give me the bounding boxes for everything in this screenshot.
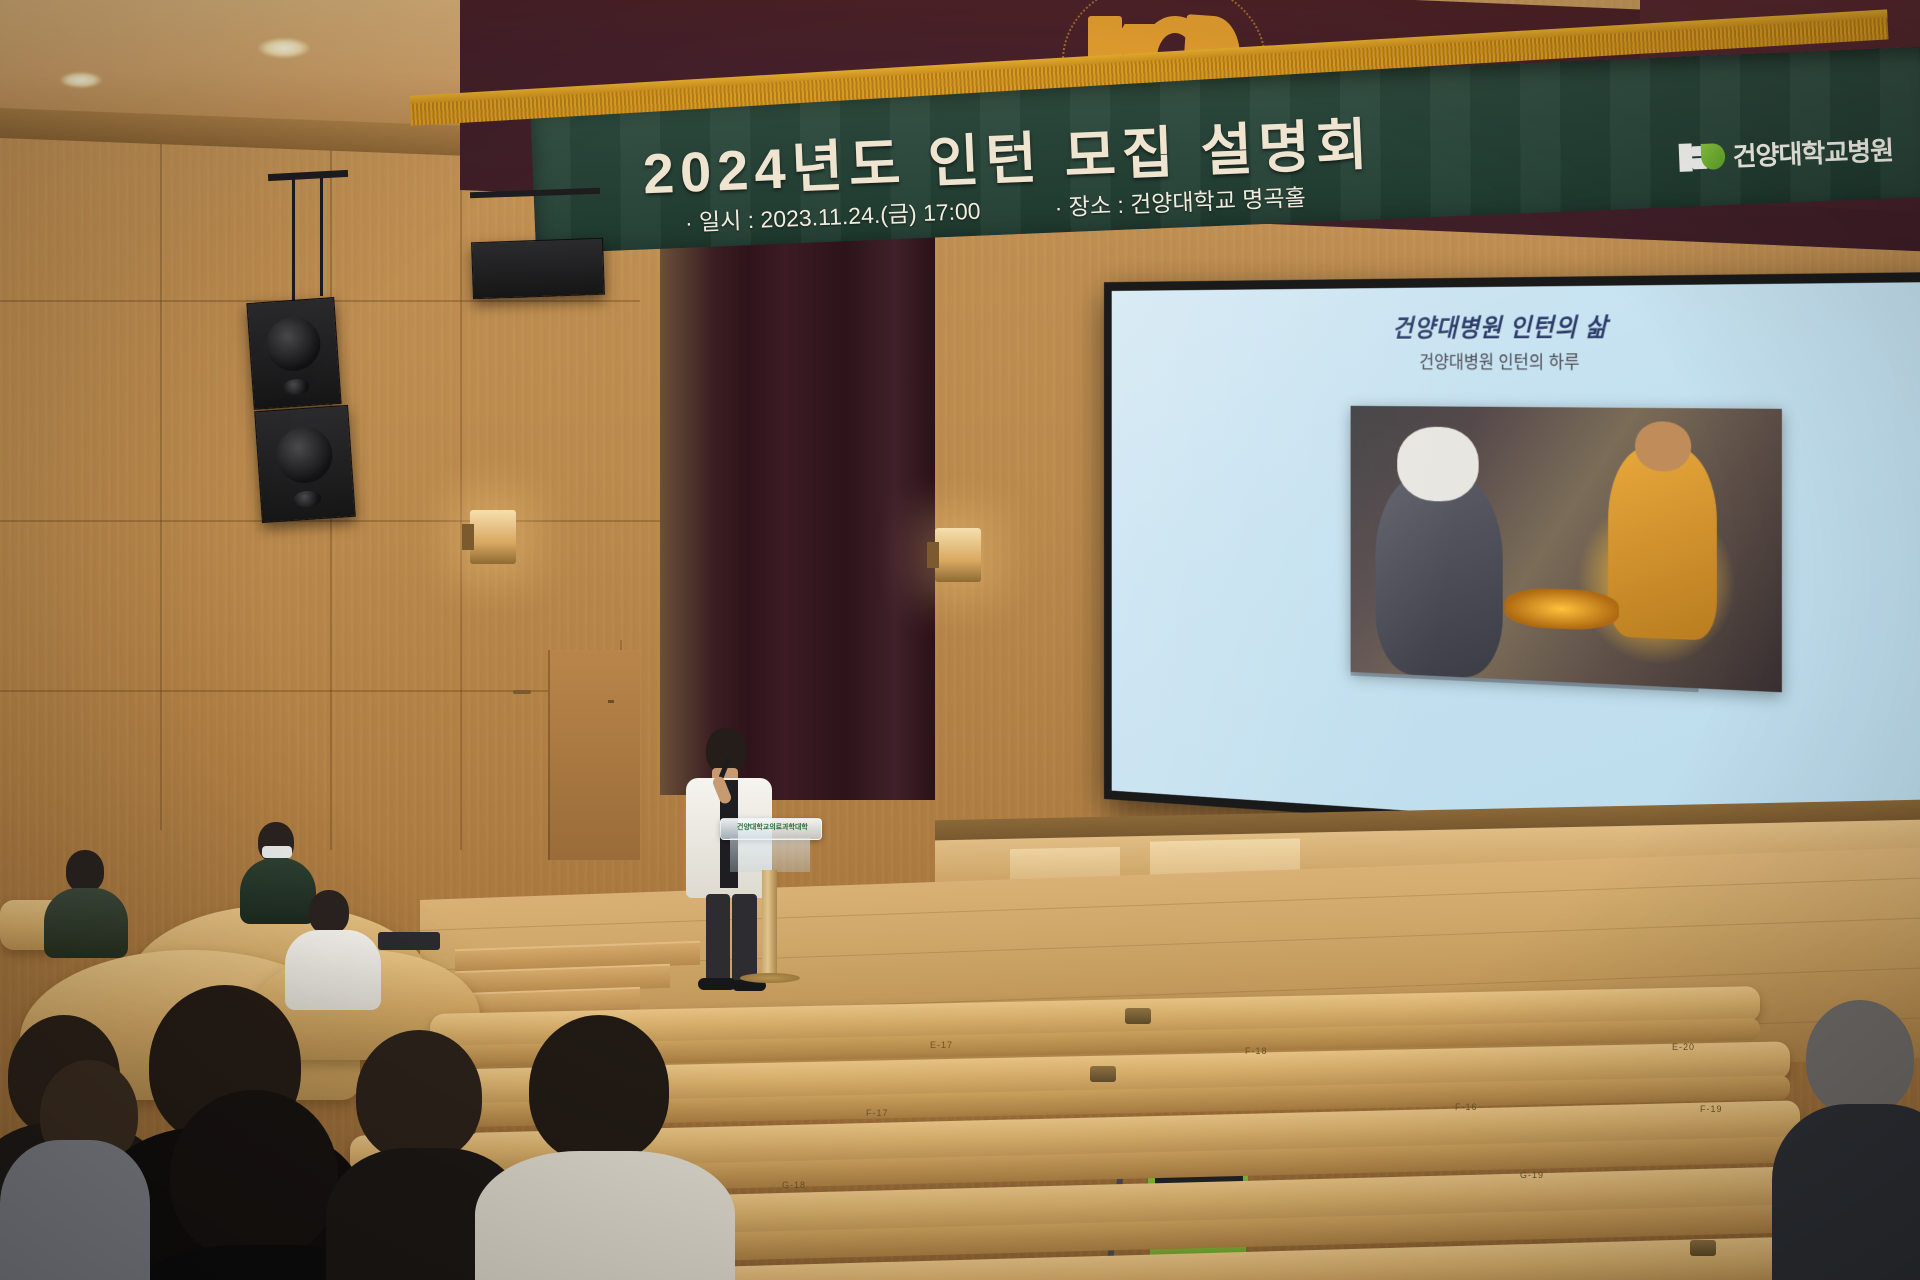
podium-glass-panel bbox=[730, 838, 810, 872]
desk-outlet-box[interactable] bbox=[1090, 1066, 1116, 1082]
wall-lamp-left bbox=[470, 510, 516, 564]
loudspeaker-upper bbox=[246, 297, 341, 410]
ceiling-light-icon bbox=[258, 38, 310, 58]
face-mask-icon bbox=[262, 846, 292, 858]
ky-logo-icon bbox=[1678, 142, 1725, 172]
desk-outlet-box[interactable] bbox=[1690, 1240, 1716, 1256]
podium-logo-text: 건양대학교의료과학대학 bbox=[737, 822, 808, 832]
stage-curtain bbox=[735, 200, 935, 800]
seat-label: E-20 bbox=[1672, 1042, 1695, 1052]
wall-lamp-right bbox=[935, 528, 981, 582]
ceiling-light-icon bbox=[60, 72, 102, 88]
banner-logo-text: 건양대학교병원 bbox=[1732, 130, 1894, 174]
seat-label: G-18 bbox=[782, 1180, 806, 1190]
wall-panel-seam bbox=[0, 690, 640, 692]
foreground-attendee bbox=[505, 1015, 695, 1280]
seat-label: F-19 bbox=[1700, 1104, 1723, 1114]
stage-door[interactable] bbox=[548, 650, 640, 860]
ceiling-speaker-box bbox=[471, 238, 605, 300]
stage-curtain-side bbox=[660, 235, 750, 795]
seat-label: F-18 bbox=[1245, 1046, 1268, 1056]
wall-panel-seam bbox=[0, 520, 660, 522]
wall-panel-seam bbox=[160, 130, 162, 830]
speaker-rigging-cable bbox=[320, 176, 323, 296]
seat-label: F-16 bbox=[1455, 1102, 1478, 1112]
seat-label: G-19 bbox=[1520, 1170, 1544, 1180]
wall-panel-seam bbox=[460, 170, 462, 850]
desk-outlet-box[interactable] bbox=[1125, 1008, 1151, 1024]
seat-label: E-17 bbox=[930, 1040, 953, 1050]
speaker-rigging-cable bbox=[292, 176, 295, 306]
foreground-attendee bbox=[0, 1140, 110, 1280]
podium-top: 건양대학교의료과학대학 bbox=[720, 818, 822, 840]
projection-screen-frame: 건양대병원 인턴의 삶 건양대병원 인턴의 하루 bbox=[1104, 272, 1920, 857]
door-push-bar-icon[interactable] bbox=[513, 690, 531, 694]
door-handle-icon[interactable] bbox=[608, 700, 614, 703]
seat-label: F-17 bbox=[866, 1108, 889, 1118]
screen-glare bbox=[1112, 282, 1920, 846]
projection-screen: 건양대병원 인턴의 삶 건양대병원 인턴의 하루 bbox=[1112, 282, 1920, 846]
auditorium-photo: KONYANG UNIVERSITY 건양대학교 · 1991 2024년도 인… bbox=[0, 0, 1920, 1280]
loudspeaker-lower bbox=[254, 405, 356, 523]
foreground-attendee bbox=[1790, 1000, 1920, 1280]
